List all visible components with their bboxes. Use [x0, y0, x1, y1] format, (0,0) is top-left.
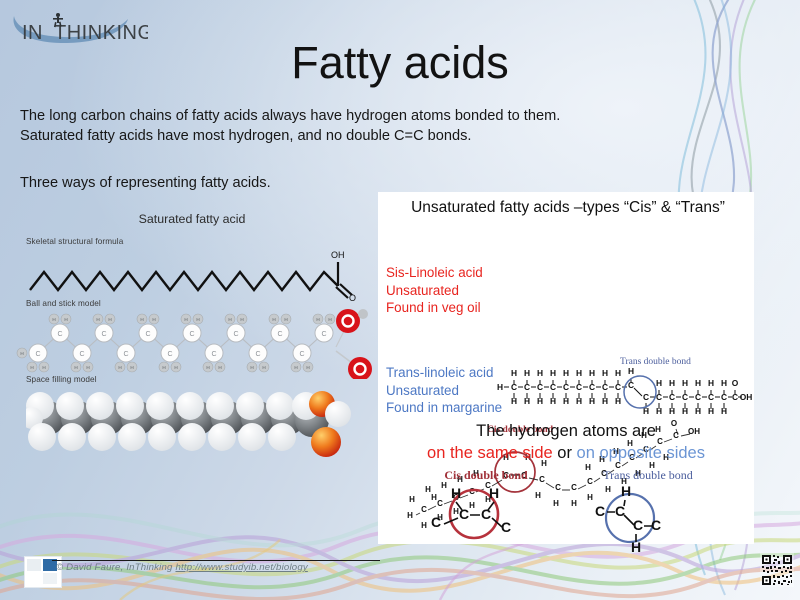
intro-line-1: The long carbon chains of fatty acids al…	[20, 106, 660, 126]
cis-line-3: Found in veg oil	[386, 299, 483, 317]
svg-text:H: H	[174, 365, 177, 370]
cis-bond-caption: Cis double bond	[406, 468, 566, 483]
svg-text:C: C	[35, 351, 40, 358]
cis-line-2: Unsaturated	[386, 282, 483, 300]
svg-text:C: C	[633, 517, 643, 533]
svg-text:C: C	[571, 483, 577, 492]
svg-text:H: H	[602, 368, 608, 378]
svg-text:H: H	[206, 365, 209, 370]
svg-text:C: C	[299, 351, 304, 358]
svg-text:C: C	[233, 331, 238, 338]
svg-text:H: H	[409, 495, 415, 504]
footer-divider	[52, 560, 380, 561]
svg-text:H: H	[196, 317, 199, 322]
svg-text:H: H	[524, 368, 530, 378]
unsaturated-panel: Unsaturated fatty acids –types “Cis” & “…	[378, 192, 754, 544]
panel-title: Unsaturated fatty acids –types “Cis” & “…	[388, 198, 748, 218]
svg-text:C: C	[145, 331, 150, 338]
svg-text:C: C	[501, 519, 511, 535]
trans-double-bond-detail: H CC CC H	[578, 482, 708, 554]
svg-text:H: H	[615, 368, 621, 378]
trans-line-3: Found in margarine	[386, 399, 502, 417]
summary-line-2: on the same side or on opposite sides	[378, 444, 754, 463]
svg-text:C: C	[123, 351, 128, 358]
svg-text:H: H	[64, 317, 67, 322]
skeletal-structure-diagram: OH O	[26, 246, 376, 301]
svg-text:H: H	[20, 351, 23, 356]
svg-text:C: C	[79, 351, 84, 358]
left-figure-title: Saturated fatty acid	[8, 212, 376, 226]
label-skeletal-formula: Skeletal structural formula	[26, 237, 123, 246]
trans-description: Trans-linoleic acid Unsaturated Found in…	[386, 364, 502, 417]
svg-text:H: H	[537, 368, 543, 378]
summary-opposite-sides: on opposite sides	[577, 444, 705, 462]
svg-text:H: H	[294, 365, 297, 370]
summary-or: or	[557, 444, 572, 462]
svg-text:H: H	[184, 317, 187, 322]
summary-same-side: on the same side	[427, 444, 553, 462]
svg-text:C: C	[595, 503, 605, 519]
svg-text:C: C	[255, 351, 260, 358]
svg-text:H: H	[489, 485, 499, 501]
svg-text:OH: OH	[331, 250, 345, 260]
svg-text:H: H	[152, 317, 155, 322]
svg-text:H: H	[42, 365, 45, 370]
svg-text:H: H	[118, 365, 121, 370]
svg-text:C: C	[643, 392, 649, 402]
svg-text:H: H	[30, 365, 33, 370]
svg-text:H: H	[96, 317, 99, 322]
footer-url[interactable]: http://www.studyib.net/biology	[175, 562, 307, 573]
svg-text:H: H	[511, 368, 517, 378]
slide: IN THINKING Fatty acids The long carbon …	[0, 0, 800, 600]
trans-line-2: Unsaturated	[386, 382, 502, 400]
svg-text:O: O	[732, 378, 739, 388]
svg-text:H: H	[621, 483, 631, 499]
svg-text:C: C	[651, 517, 661, 533]
svg-text:H: H	[162, 365, 165, 370]
svg-text:C: C	[211, 351, 216, 358]
svg-text:H: H	[130, 365, 133, 370]
svg-text:H: H	[52, 317, 55, 322]
svg-text:H: H	[669, 378, 675, 388]
svg-text:H: H	[550, 368, 556, 378]
svg-text:H: H	[218, 365, 221, 370]
svg-text:H: H	[589, 368, 595, 378]
svg-text:H: H	[628, 366, 634, 376]
cis-description: Sis-Linoleic acid Unsaturated Found in v…	[386, 264, 483, 317]
svg-text:H: H	[74, 365, 77, 370]
cis-double-bond-detail: HH CC CC	[418, 482, 548, 544]
footer-text: © David Faure, InThinking http://www.stu…	[56, 562, 308, 573]
intro-paragraph: The long carbon chains of fatty acids al…	[20, 106, 660, 146]
space-filling-diagram	[26, 384, 366, 462]
svg-text:H: H	[708, 378, 714, 388]
svg-text:H: H	[695, 378, 701, 388]
svg-text:H: H	[553, 499, 559, 508]
svg-text:H: H	[228, 317, 231, 322]
svg-text:H: H	[407, 511, 413, 520]
svg-text:H: H	[262, 365, 265, 370]
svg-text:H: H	[656, 378, 662, 388]
intro-line-3: Three ways of representing fatty acids.	[20, 173, 520, 193]
svg-text:H: H	[140, 317, 143, 322]
qr-code-icon[interactable]	[760, 553, 794, 587]
svg-text:C: C	[321, 331, 326, 338]
intro-line-2: Saturated fatty acids have most hydrogen…	[20, 126, 660, 146]
svg-text:H: H	[86, 365, 89, 370]
cis-line-1: Sis-Linoleic acid	[386, 264, 483, 282]
svg-text:H: H	[250, 365, 253, 370]
svg-text:C: C	[277, 331, 282, 338]
svg-text:H: H	[497, 382, 503, 392]
svg-text:H: H	[563, 368, 569, 378]
summary-line-1: The hydrogen atoms are	[378, 422, 754, 441]
svg-text:C: C	[431, 514, 441, 530]
footer-copyright: © David Faure, InThinking	[56, 562, 173, 573]
svg-text:H: H	[272, 317, 275, 322]
trans-line-1: Trans-linoleic acid	[386, 364, 502, 382]
trans-linoleic-molecule-diagram: Trans double bond H CHH CHH CHH CHH CHH …	[496, 354, 752, 424]
svg-text:H: H	[328, 317, 331, 322]
svg-text:C: C	[555, 483, 561, 492]
svg-text:C: C	[101, 331, 106, 338]
svg-text:C: C	[57, 331, 62, 338]
svg-text:H: H	[306, 365, 309, 370]
svg-text:H: H	[240, 317, 243, 322]
svg-text:H: H	[451, 485, 461, 501]
svg-text:O: O	[349, 293, 356, 301]
svg-text:H: H	[576, 368, 582, 378]
svg-text:H: H	[682, 378, 688, 388]
svg-text:C: C	[167, 351, 172, 358]
svg-text:H: H	[721, 378, 727, 388]
page-title: Fatty acids	[0, 37, 800, 89]
svg-text:H: H	[108, 317, 111, 322]
svg-text:C: C	[189, 331, 194, 338]
saturated-fatty-acid-figure: Saturated fatty acid Skeletal structural…	[8, 212, 376, 472]
trans-bond-caption: Trans double bond	[568, 468, 728, 483]
svg-text:H: H	[571, 499, 577, 508]
svg-text:H: H	[316, 317, 319, 322]
svg-text:H: H	[284, 317, 287, 322]
ball-and-stick-diagram: CCC CCCC CCC CCCC	[16, 307, 376, 379]
